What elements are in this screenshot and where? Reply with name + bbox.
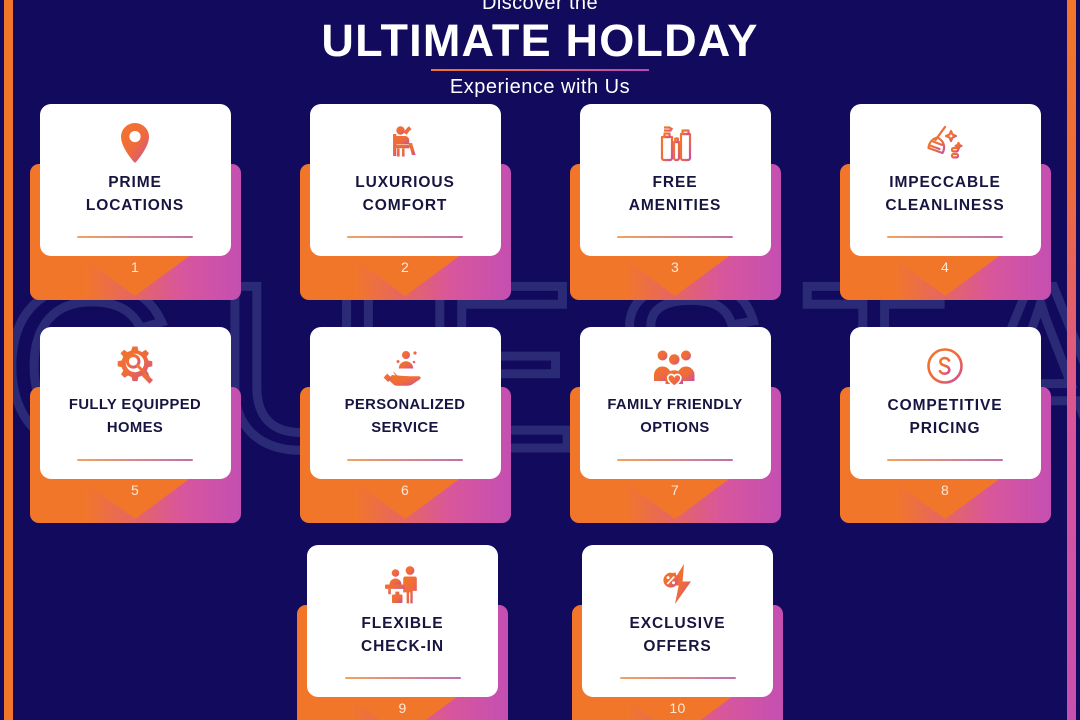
header-subtitle: Experience with Us (0, 75, 1080, 99)
card-number: 5 (131, 482, 139, 519)
card-divider (345, 677, 461, 679)
card-divider (77, 236, 193, 238)
card-body[interactable]: COMPETITIVEPRICING (850, 327, 1041, 479)
card-divider (77, 459, 193, 461)
card-title: PRIMELOCATIONS (80, 171, 190, 217)
card-number: 4 (941, 259, 949, 296)
map-pin-icon (113, 120, 157, 166)
card-cell: 4IMPECCABLECLEANLINESS (810, 104, 1080, 300)
infographic-canvas: GUESTA Discover the ULTIMATE HOLDAY Expe… (0, 0, 1080, 720)
lightning-discount-icon (654, 561, 702, 607)
feature-card-1[interactable]: 1PRIMELOCATIONS (30, 104, 241, 300)
card-title: IMPECCABLECLEANLINESS (879, 171, 1010, 217)
card-cell: 9FLEXIBLECHECK-IN (265, 545, 540, 720)
card-title: LUXURIOUSCOMFORT (349, 171, 460, 217)
feature-card-4[interactable]: 4IMPECCABLECLEANLINESS (840, 104, 1051, 300)
card-cell: 8COMPETITIVEPRICING (810, 327, 1080, 523)
card-title: FLEXIBLECHECK-IN (355, 612, 450, 658)
card-body[interactable]: FLEXIBLECHECK-IN (307, 545, 498, 697)
card-number: 9 (398, 700, 406, 720)
card-number: 3 (671, 259, 679, 296)
card-body[interactable]: PRIMELOCATIONS (40, 104, 231, 256)
hand-holding-person-icon (381, 343, 429, 389)
card-divider (617, 459, 733, 461)
card-divider (887, 236, 1003, 238)
card-number: 8 (941, 482, 949, 519)
page-header: Discover the ULTIMATE HOLDAY Experience … (0, 0, 1080, 99)
card-divider (887, 459, 1003, 461)
card-body[interactable]: FREEAMENITIES (580, 104, 771, 256)
card-cell: 1PRIMELOCATIONS (0, 104, 270, 300)
card-row-3: 9FLEXIBLECHECK-IN10EXCLUSIVEOFFERS (0, 545, 1080, 720)
card-title: PERSONALIZEDSERVICE (339, 394, 472, 440)
feature-card-5[interactable]: 5FULLY EQUIPPEDHOMES (30, 327, 241, 523)
toiletries-bottles-icon (651, 120, 699, 166)
card-cell: 5FULLY EQUIPPEDHOMES (0, 327, 270, 523)
feature-card-2[interactable]: 2LUXURIOUSCOMFORT (300, 104, 511, 300)
header-eyebrow: Discover the (0, 0, 1080, 14)
card-row-1: 1PRIMELOCATIONS2LUXURIOUSCOMFORT3FREEAME… (0, 104, 1080, 300)
page-title: ULTIMATE HOLDAY (0, 15, 1080, 67)
card-body[interactable]: FAMILY FRIENDLYOPTIONS (580, 327, 771, 479)
feature-card-7[interactable]: 7FAMILY FRIENDLYOPTIONS (570, 327, 781, 523)
card-row-2: 5FULLY EQUIPPEDHOMES6PERSONALIZEDSERVICE… (0, 327, 1080, 523)
card-number: 7 (671, 482, 679, 519)
card-body[interactable]: PERSONALIZEDSERVICE (310, 327, 501, 479)
card-divider (617, 236, 733, 238)
feature-card-10[interactable]: 10EXCLUSIVEOFFERS (572, 545, 783, 720)
card-title: COMPETITIVEPRICING (882, 394, 1009, 440)
card-body[interactable]: LUXURIOUSCOMFORT (310, 104, 501, 256)
card-title: EXCLUSIVEOFFERS (624, 612, 732, 658)
card-number: 2 (401, 259, 409, 296)
card-divider (620, 677, 736, 679)
card-cell: 7FAMILY FRIENDLYOPTIONS (540, 327, 810, 523)
card-cell: 3FREEAMENITIES (540, 104, 810, 300)
family-heart-icon (651, 343, 699, 389)
card-cell: 6PERSONALIZEDSERVICE (270, 327, 540, 523)
person-relaxing-chair-icon (382, 120, 428, 166)
gear-wrench-icon (112, 343, 158, 389)
feature-card-3[interactable]: 3FREEAMENITIES (570, 104, 781, 300)
card-body[interactable]: IMPECCABLECLEANLINESS (850, 104, 1041, 256)
card-body[interactable]: EXCLUSIVEOFFERS (582, 545, 773, 697)
card-title: FULLY EQUIPPEDHOMES (63, 394, 207, 440)
dollar-circle-icon (922, 343, 968, 389)
feature-card-6[interactable]: 6PERSONALIZEDSERVICE (300, 327, 511, 523)
card-title: FREEAMENITIES (623, 171, 728, 217)
card-cell: 2LUXURIOUSCOMFORT (270, 104, 540, 300)
card-body[interactable]: FULLY EQUIPPEDHOMES (40, 327, 231, 479)
card-number: 6 (401, 482, 409, 519)
card-number: 1 (131, 259, 139, 296)
broom-sparkle-icon (921, 120, 969, 166)
feature-card-9[interactable]: 9FLEXIBLECHECK-IN (297, 545, 508, 720)
card-title: FAMILY FRIENDLYOPTIONS (601, 394, 748, 440)
card-divider (347, 236, 463, 238)
card-cell: 10EXCLUSIVEOFFERS (540, 545, 815, 720)
card-number: 10 (669, 700, 685, 720)
card-divider (347, 459, 463, 461)
feature-card-8[interactable]: 8COMPETITIVEPRICING (840, 327, 1051, 523)
header-divider (431, 69, 649, 71)
reception-desk-icon (379, 561, 427, 607)
